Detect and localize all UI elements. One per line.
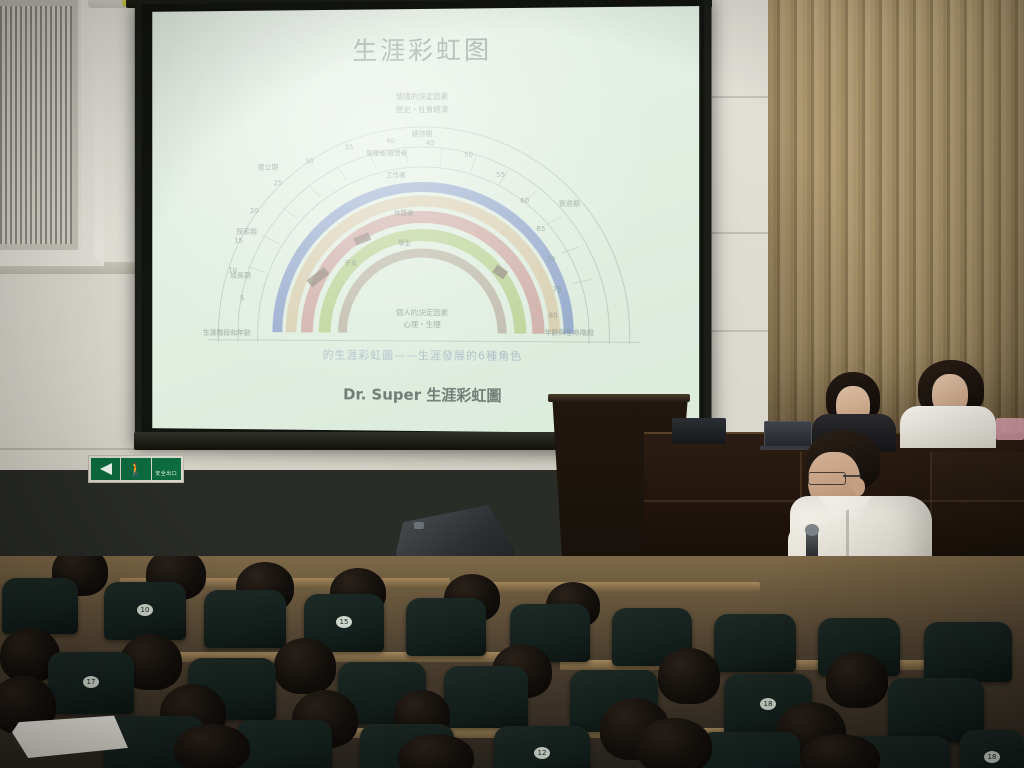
microphone-head [805, 524, 819, 536]
seat-number: 12 [534, 747, 550, 759]
band-label-manager: 管理者/經營者 [366, 147, 407, 157]
age-tick-45: 45 [426, 139, 435, 147]
panel-desk-section-right [930, 452, 1024, 572]
seat-number: 18 [984, 751, 1000, 763]
age-tick-55: 55 [496, 171, 505, 179]
seat[interactable] [444, 666, 528, 728]
age-tick-30: 30 [305, 157, 314, 165]
projection-screen: 生涯彩虹图 情境的決定因素 歷史・社會經濟 維持期 [135, 0, 712, 449]
band-label-student: 學生 [398, 237, 411, 247]
right-wall-seam [706, 232, 772, 234]
stage-label-decline: 衰退期 [559, 199, 580, 209]
slide-bottom-label-2: 心理・生理 [403, 319, 440, 330]
axis-right-label: 年齡與生命階段 [544, 328, 594, 338]
panelist-2-body [900, 406, 996, 448]
age-tick-75: 75 [553, 285, 562, 293]
seat[interactable] [924, 622, 1012, 682]
right-wall-seam [706, 330, 772, 332]
exit-sign-text: 安全出口 [155, 470, 177, 477]
slide-caption: 的生涯彩虹圖——生涯發展的6種角色 [152, 345, 699, 365]
seat[interactable]: 10 [104, 582, 186, 640]
seat[interactable] [204, 590, 286, 648]
laptop [764, 421, 812, 449]
seat[interactable]: 12 [494, 726, 590, 768]
slide-bottom-label-1: 個人的決定因素 [396, 307, 448, 318]
age-tick-50: 50 [464, 151, 473, 159]
exit-arrow-cell [91, 458, 120, 480]
emergency-exit-sign: 🚶 安全出口 [88, 455, 184, 483]
slide-content: 生涯彩虹图 情境的決定因素 歷史・社會經濟 維持期 [152, 6, 699, 434]
right-wall-seam [706, 96, 772, 98]
laptop-secondary [672, 418, 726, 444]
audience-head [636, 718, 712, 768]
audience-head [658, 648, 720, 704]
age-tick-65: 65 [536, 225, 545, 233]
right-wall-panel [706, 0, 772, 438]
lectern-top-surface [548, 394, 690, 402]
seat[interactable] [700, 732, 800, 768]
audience-seating: 10 15 17 18 [0, 556, 1024, 768]
age-tick-25: 25 [273, 179, 282, 187]
speaker-badge-icon [414, 522, 424, 529]
left-arrow-icon [100, 463, 112, 475]
age-tick-40: 40 [386, 137, 395, 145]
audience-head [174, 724, 250, 768]
seat-number: 18 [760, 698, 776, 710]
seat-number: 17 [83, 676, 99, 688]
slat-panel-frame [0, 0, 104, 266]
age-tick-70: 70 [546, 255, 555, 263]
seat[interactable] [406, 598, 486, 656]
seat-number: 15 [336, 616, 352, 628]
glasses-icon [808, 472, 846, 485]
seat[interactable] [236, 720, 332, 768]
white-box-print [44, 734, 46, 740]
lecture-hall-photo: 生涯彩虹图 情境的決定因素 歷史・社會經濟 維持期 [0, 0, 1024, 768]
audience-head [274, 638, 336, 694]
age-tick-80: 80 [549, 312, 558, 320]
band-label-worker: 工作者 [386, 169, 405, 179]
pink-item-on-desk [996, 418, 1024, 440]
age-tick-10: 10 [228, 267, 237, 275]
seat[interactable] [2, 578, 78, 634]
running-man-icon: 🚶 [128, 463, 144, 476]
exit-word-cell: 安全出口 [152, 458, 181, 480]
age-tick-15: 15 [234, 237, 243, 245]
axis-left-label: 生涯階段和年齡 [203, 328, 251, 338]
glasses-arm [843, 475, 861, 477]
band-label-child: 子女 [344, 257, 357, 267]
audience-desk [480, 582, 760, 592]
seat[interactable]: 18 [960, 730, 1024, 768]
age-tick-20: 20 [250, 207, 259, 215]
age-tick-35: 35 [344, 143, 353, 151]
band-label-leisure: 休閒者 [394, 207, 413, 217]
exit-pictogram-cell: 🚶 [121, 458, 150, 480]
age-tick-60: 60 [520, 197, 529, 205]
speaker-ear [852, 478, 865, 496]
stage-label-explore: 探索期 [236, 227, 257, 237]
slide-title: 生涯彩虹图 [152, 28, 699, 69]
age-tick-5: 5 [240, 294, 244, 302]
seat-number: 10 [137, 604, 153, 616]
seat[interactable] [714, 614, 796, 672]
audience-head [826, 652, 888, 708]
projection-screen-surface: 生涯彩虹图 情境的決定因素 歷史・社會經濟 維持期 [152, 6, 699, 434]
stage-label-establish: 建立期 [258, 162, 279, 172]
seat[interactable]: 17 [48, 652, 134, 714]
curtain-shading [768, 0, 1024, 440]
